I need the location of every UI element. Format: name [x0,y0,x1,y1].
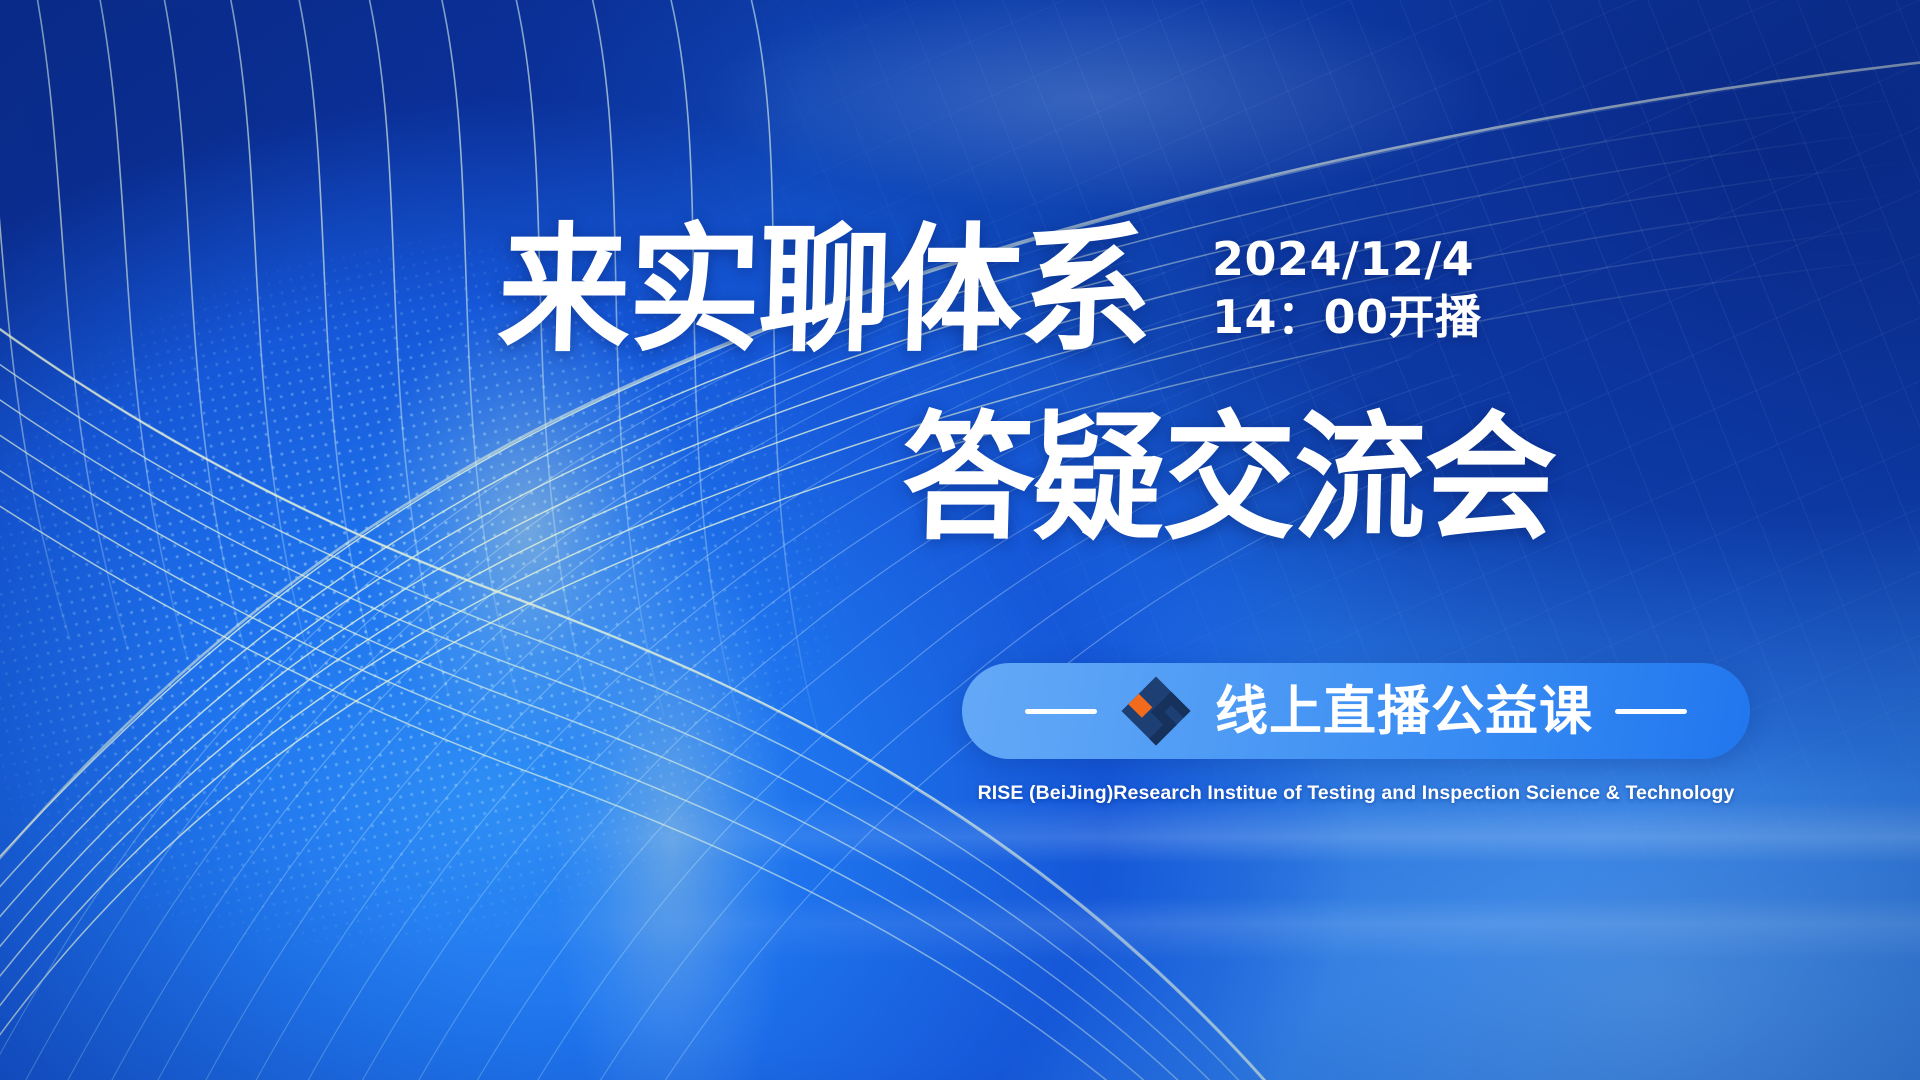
rise-diamond-logo-icon [1119,674,1193,748]
event-date: 2024/12/4 [1212,232,1482,286]
divider-dash-left-icon [1025,709,1097,714]
title-line-2: 答疑交流会 [900,410,1556,548]
headline-row-primary: 来实聊体系 2024/12/4 14：00开播 [498,222,1818,360]
promo-banner: 来实聊体系 2024/12/4 14：00开播 答疑交流会 [0,0,1920,1080]
headline-block: 来实聊体系 2024/12/4 14：00开播 答疑交流会 [498,222,1818,360]
badge-label: 线上直播公益课 [1215,685,1593,738]
live-course-badge: 线上直播公益课 [962,663,1750,759]
divider-dash-right-icon [1615,709,1687,714]
organization-english-name: RISE (BeiJing)Research Institue of Testi… [962,782,1750,805]
title-line-1: 来实聊体系 [496,222,1152,360]
poster-content: 来实聊体系 2024/12/4 14：00开播 答疑交流会 [0,0,1920,1080]
event-datetime: 2024/12/4 14：00开播 [1212,222,1482,345]
event-time: 14：00开播 [1212,290,1482,344]
